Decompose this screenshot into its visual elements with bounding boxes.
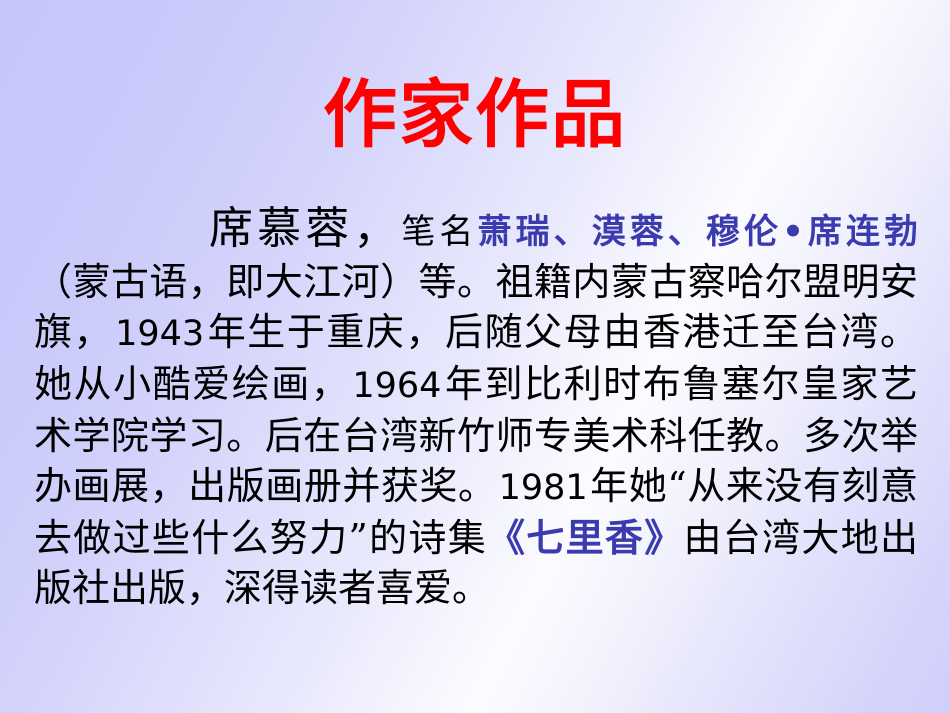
presentation-slide: 作家作品 席慕蓉，笔名萧瑞、漠蓉、穆伦•席连勃（蒙古语，即大江河）等。祖籍内蒙古… [0, 0, 950, 713]
content-placeholder: 席慕蓉，笔名萧瑞、漠蓉、穆伦•席连勃（蒙古语，即大江河）等。祖籍内蒙古察哈尔盟明… [34, 166, 918, 651]
author-name: 席慕蓉， [209, 203, 401, 254]
page-title: 作家作品 [323, 78, 627, 152]
year-1964: 1964 [350, 366, 443, 406]
book-title: 《七里香》 [487, 515, 684, 560]
penname-list-part1: 萧瑞、漠蓉、穆伦• [477, 212, 803, 252]
year-1981: 1981 [497, 468, 590, 508]
biography-paragraph: 席慕蓉，笔名萧瑞、漠蓉、穆伦•席连勃（蒙古语，即大江河）等。祖籍内蒙古察哈尔盟明… [34, 204, 918, 613]
penname-list-part2: 席连勃 [804, 212, 918, 252]
year-1943: 1943 [113, 314, 206, 354]
penname-label: 笔名 [401, 212, 477, 252]
